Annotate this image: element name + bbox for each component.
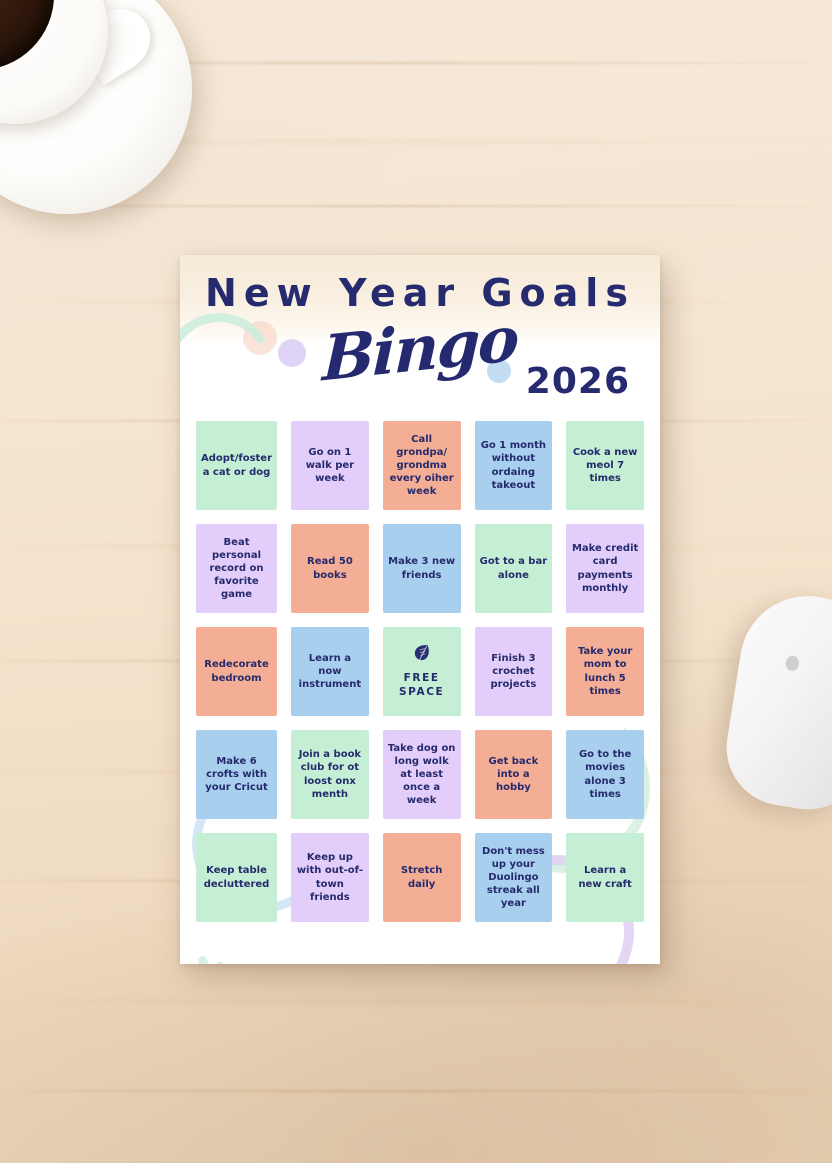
bingo-cell-free-space[interactable]: FREE SPACE	[383, 627, 461, 716]
bingo-cell-label: Read 50 books	[296, 555, 364, 581]
bingo-cell[interactable]: Make credit card payments monthly	[566, 524, 644, 613]
bingo-cell[interactable]: Make 3 new friends	[383, 524, 461, 613]
bingo-cell[interactable]: Learn a now instrument	[291, 627, 369, 716]
bingo-cell-label: Make 6 crofts with your Cricut	[201, 755, 272, 795]
bingo-cell[interactable]: Call grondpa/ grondma every oiher week	[383, 421, 461, 510]
bingo-cell[interactable]: Adopt/foster a cat or dog	[196, 421, 277, 510]
bingo-cell-label: Go to the movies alone 3 times	[571, 748, 639, 801]
bingo-cell[interactable]: Take dog on long wolk at least once a we…	[383, 730, 461, 819]
bingo-cell[interactable]: Keep table decluttered	[196, 833, 277, 922]
computer-mouse[interactable]	[718, 586, 832, 817]
desk-scene: New Year Goals Bingo 2026 Adopt/foster a…	[0, 0, 832, 1163]
bingo-cell-label: Get back into a hobby	[480, 755, 548, 795]
bingo-cell-label: Redecorate bedroom	[201, 658, 272, 684]
bingo-cell[interactable]: Make 6 crofts with your Cricut	[196, 730, 277, 819]
bingo-cell[interactable]: Learn a new craft	[566, 833, 644, 922]
bingo-cell-label: Keep table decluttered	[201, 864, 272, 890]
bingo-cell[interactable]: Join a book club for ot loost onx menth	[291, 730, 369, 819]
bingo-cell-label: Learn a new craft	[571, 864, 639, 890]
bingo-grid: Adopt/foster a cat or dogGo on 1 walk pe…	[180, 421, 660, 922]
free-space-label: FREE SPACE	[399, 672, 444, 698]
wood-grain-line	[0, 1000, 832, 1003]
bingo-cell-label: Keep up with out-of-town friends	[296, 851, 364, 904]
wood-grain-line	[0, 205, 832, 207]
bingo-cell[interactable]: Got to a bar alone	[475, 524, 553, 613]
wood-grain-line	[0, 1090, 832, 1092]
bingo-cell-label: Take dog on long wolk at least once a we…	[388, 742, 456, 808]
mouse-logo-icon	[785, 655, 800, 672]
bingo-card: New Year Goals Bingo 2026 Adopt/foster a…	[180, 255, 660, 964]
bingo-cell-label: Call grondpa/ grondma every oiher week	[388, 433, 456, 499]
year-label: 2026	[526, 361, 630, 402]
bingo-cell[interactable]: Go to the movies alone 3 times	[566, 730, 644, 819]
leaf-icon	[413, 644, 430, 669]
bingo-cell[interactable]: Read 50 books	[291, 524, 369, 613]
bingo-cell-label: Go 1 month without ordaing takeout	[480, 439, 548, 492]
bingo-cell-label: Beat personal record on favorite game	[201, 536, 272, 602]
bingo-cell-label: Take your mom to lunch 5 times	[571, 645, 639, 698]
bingo-cell[interactable]: Beat personal record on favorite game	[196, 524, 277, 613]
bingo-cell[interactable]: Go on 1 walk per week	[291, 421, 369, 510]
bingo-cell-label: Finish 3 crochet projects	[480, 652, 548, 692]
bingo-cell[interactable]: Go 1 month without ordaing takeout	[475, 421, 553, 510]
confetti-stripe-mint	[214, 960, 234, 964]
bingo-cell[interactable]: Take your mom to lunch 5 times	[566, 627, 644, 716]
bingo-cell[interactable]: Redecorate bedroom	[196, 627, 277, 716]
bingo-cell[interactable]: Finish 3 crochet projects	[475, 627, 553, 716]
bingo-cell-label: Got to a bar alone	[480, 555, 548, 581]
bingo-cell[interactable]: Get back into a hobby	[475, 730, 553, 819]
bingo-cell-label: Stretch daily	[388, 864, 456, 890]
bingo-cell-label: Make credit card payments monthly	[571, 542, 639, 595]
bingo-cell-label: Adopt/foster a cat or dog	[201, 452, 272, 478]
bingo-cell-label: Learn a now instrument	[296, 652, 364, 692]
bingo-cell-label: Make 3 new friends	[388, 555, 456, 581]
bingo-cell-label: Cook a new meol 7 times	[571, 446, 639, 486]
bingo-cell-label: Don't mess up your Duolingo streak all y…	[480, 845, 548, 911]
bingo-cell-label: Go on 1 walk per week	[296, 446, 364, 486]
bingo-cell[interactable]: Don't mess up your Duolingo streak all y…	[475, 833, 553, 922]
bingo-cell[interactable]: Cook a new meol 7 times	[566, 421, 644, 510]
bingo-cell[interactable]: Stretch daily	[383, 833, 461, 922]
bingo-cell[interactable]: Keep up with out-of-town friends	[291, 833, 369, 922]
confetti-stripe-mint	[197, 955, 220, 964]
bingo-cell-label: Join a book club for ot loost onx menth	[296, 748, 364, 801]
